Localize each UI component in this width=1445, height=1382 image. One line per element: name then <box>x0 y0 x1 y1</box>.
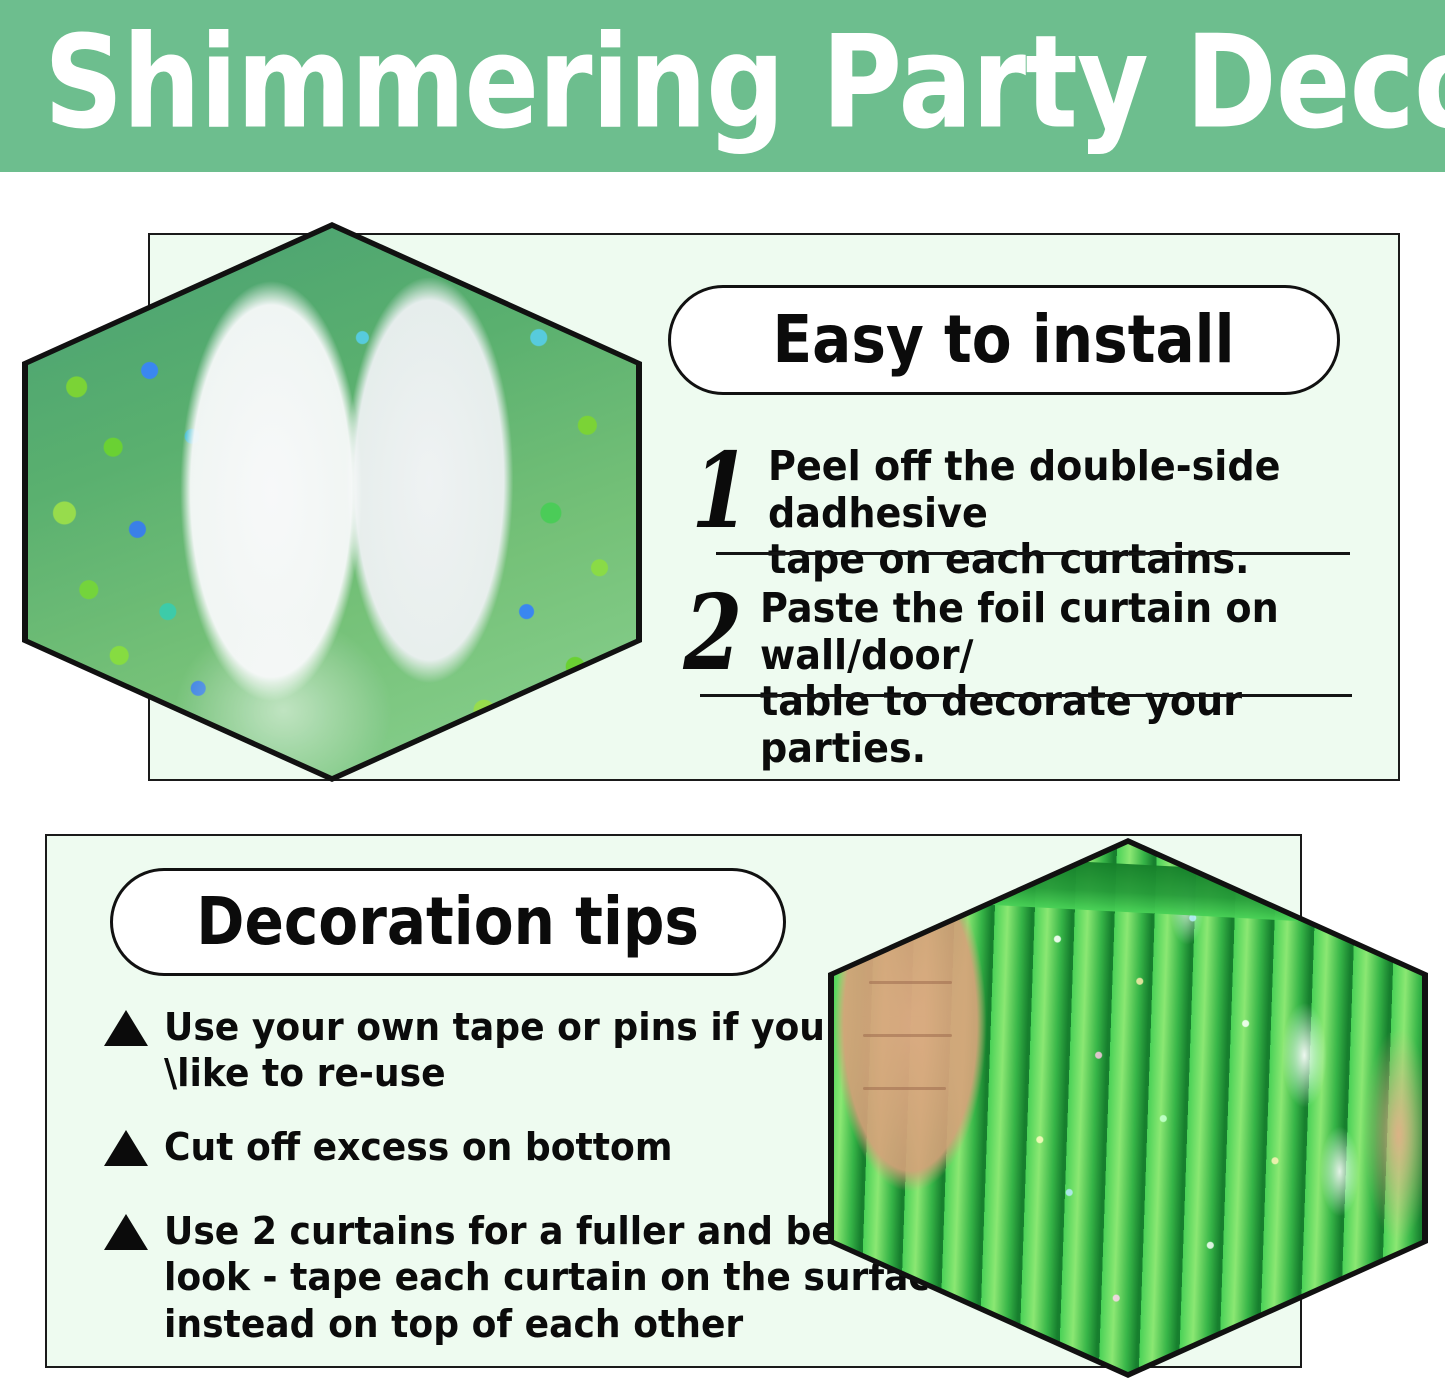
step-1-text: Peel off the double-side dadhesive tape … <box>768 443 1398 583</box>
adhesive-tape-image <box>28 228 636 776</box>
hexagon-clip <box>28 228 636 776</box>
header-banner: Shimmering Party Decoration <box>0 0 1445 172</box>
install-heading-pill: Easy to install <box>668 285 1340 395</box>
triangle-bullet-icon <box>104 1010 148 1046</box>
finger-separation <box>863 1034 951 1037</box>
step-1-divider <box>716 552 1350 555</box>
adhesive-tape-photo <box>22 222 642 782</box>
tip-item-1: Use your own tape or pins if you'd \like… <box>104 1004 899 1097</box>
triangle-bullet-icon <box>104 1214 148 1250</box>
finger-separation <box>863 1087 945 1090</box>
tips-heading-label: Decoration tips <box>197 889 700 955</box>
step-2-divider <box>700 694 1352 697</box>
install-step-1: 1 Peel off the double-side dadhesive tap… <box>700 443 1445 583</box>
tips-heading-pill: Decoration tips <box>110 868 786 976</box>
step-2-text: Paste the foil curtain on wall/door/ tab… <box>760 585 1397 772</box>
hand-curtain-image <box>834 844 1422 1372</box>
tip-item-2: Cut off excess on bottom <box>104 1124 699 1170</box>
tip-1-text: Use your own tape or pins if you'd \like… <box>164 1004 862 1097</box>
install-step-2: 2 Paste the foil curtain on wall/door/ t… <box>692 585 1445 772</box>
page-title: Shimmering Party Decoration <box>44 19 1445 147</box>
triangle-bullet-icon <box>104 1130 148 1166</box>
finger-separation <box>869 981 951 984</box>
install-heading-label: Easy to install <box>773 307 1235 373</box>
hexagon-clip <box>834 844 1422 1372</box>
tip-2-text: Cut off excess on bottom <box>164 1124 672 1170</box>
hand-curtain-photo <box>828 838 1428 1378</box>
